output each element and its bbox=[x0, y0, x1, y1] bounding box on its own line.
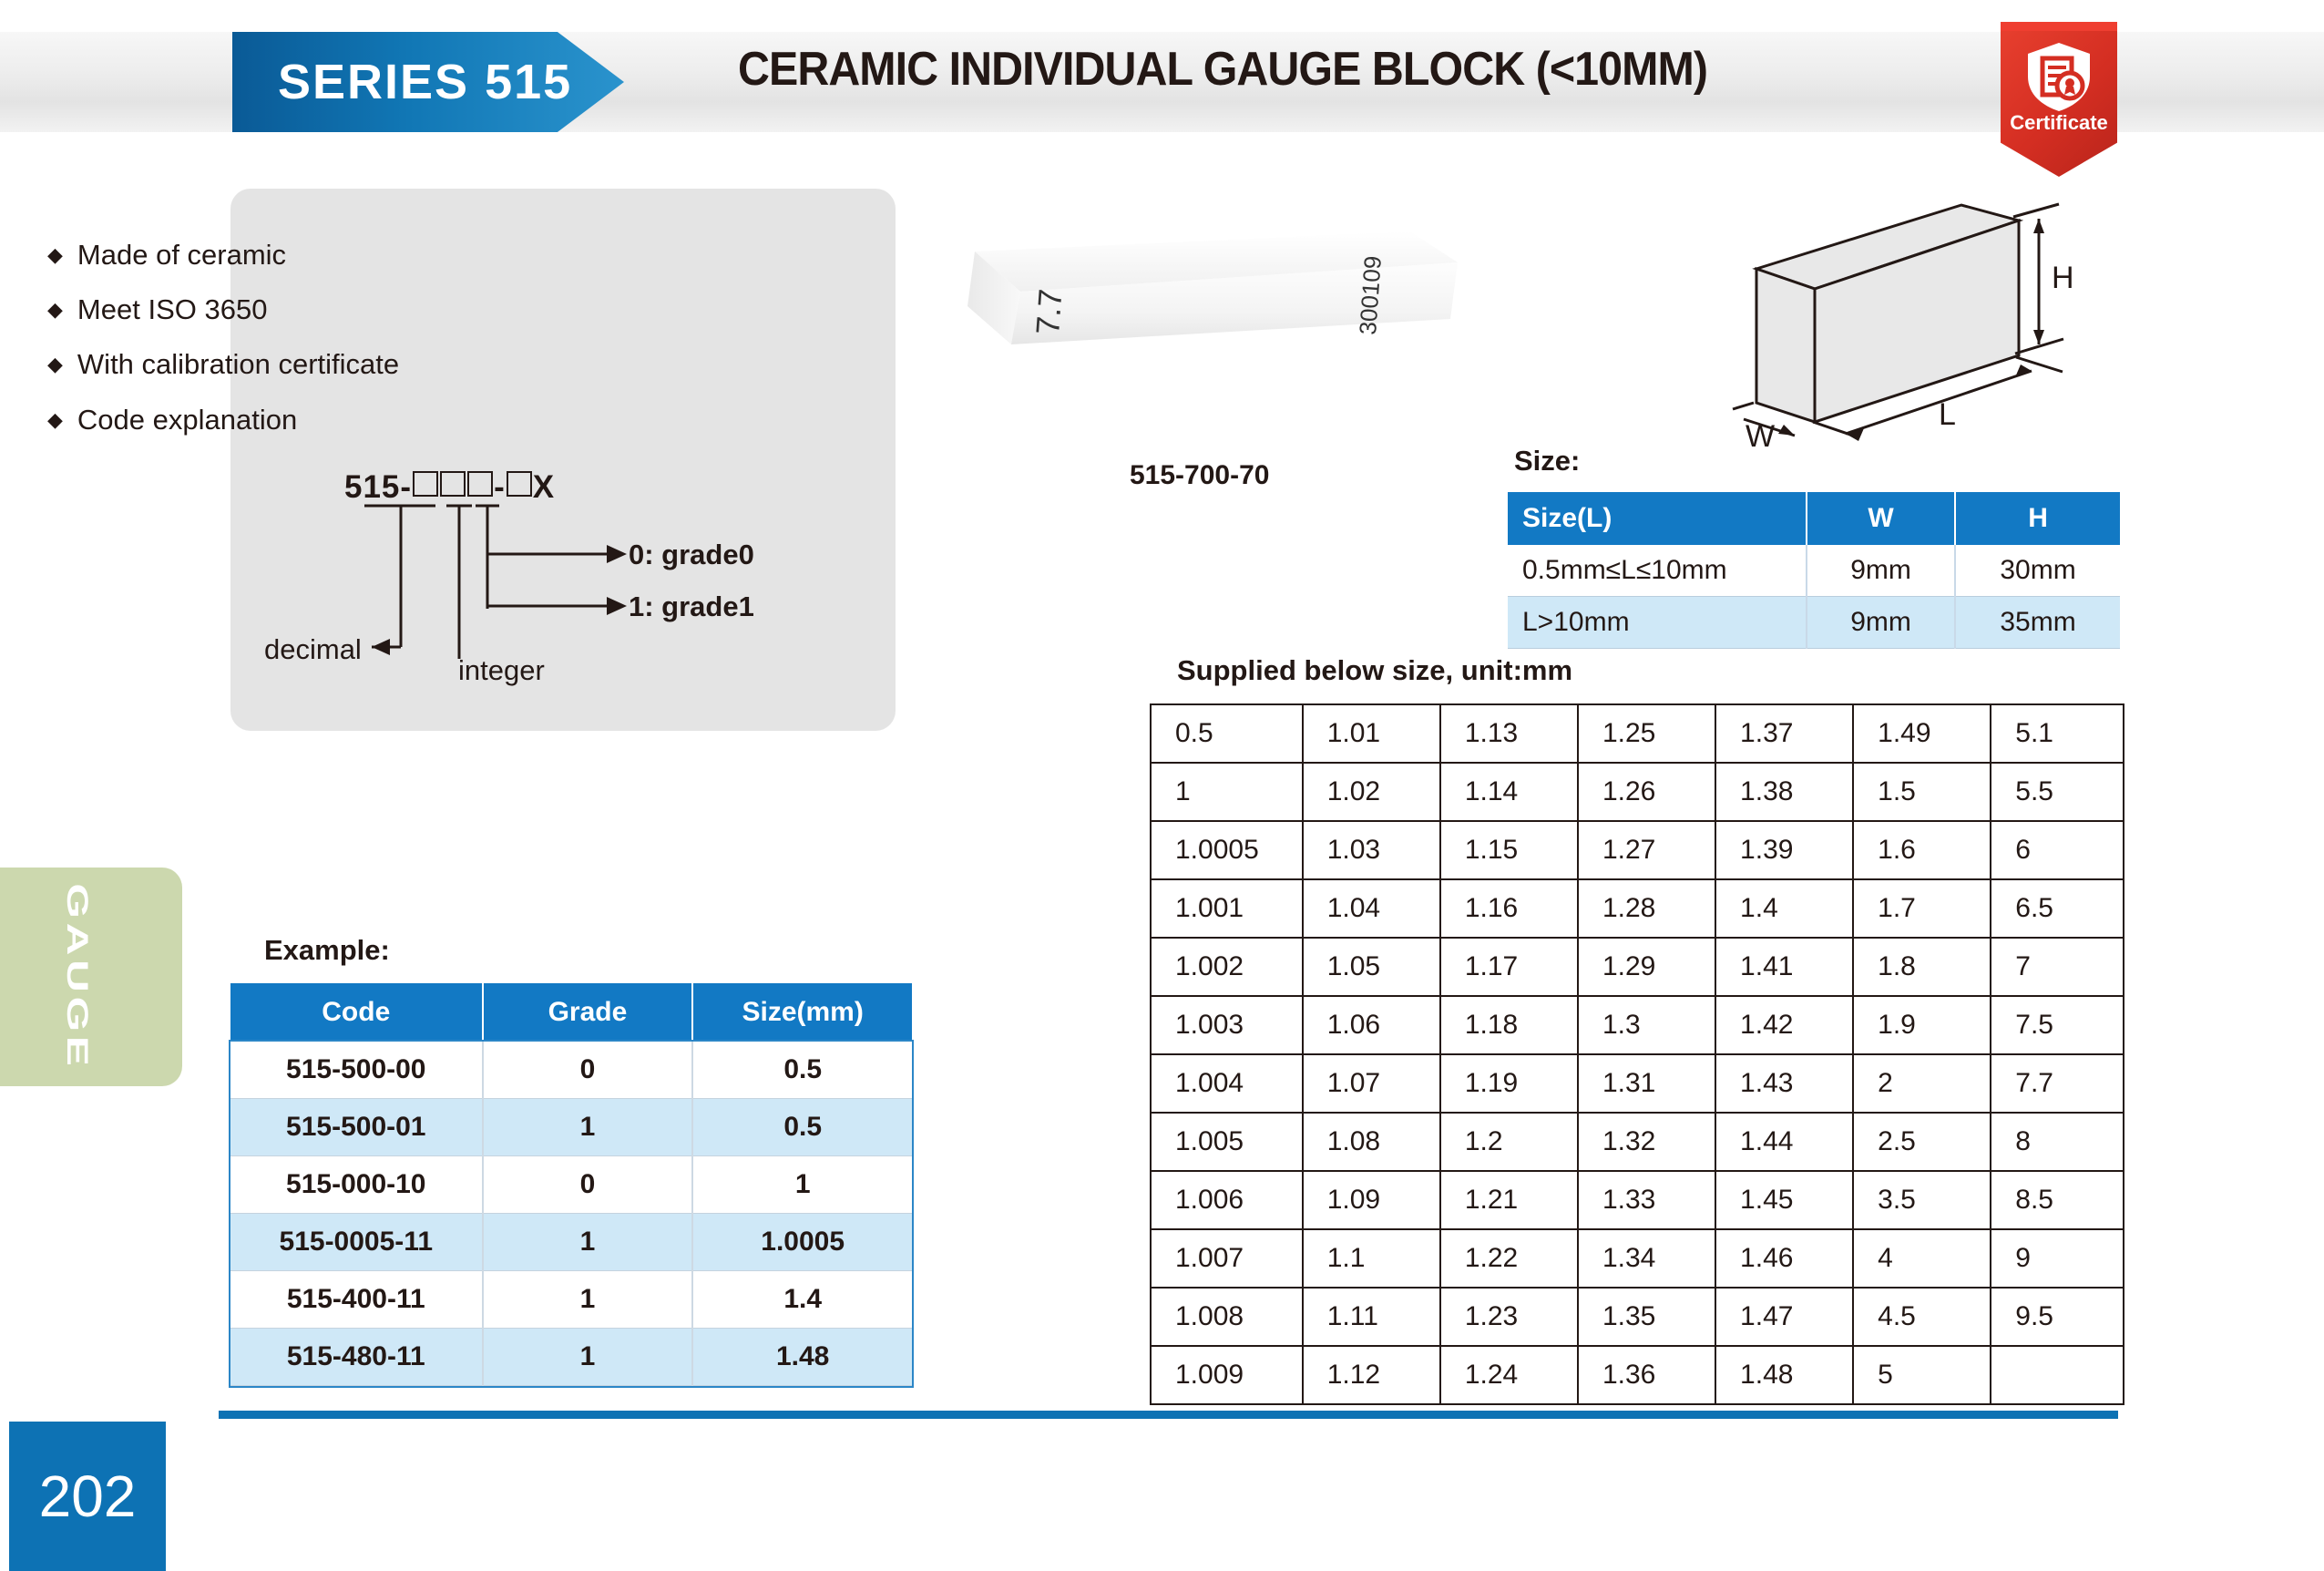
supplied-size-cell: 1.34 bbox=[1578, 1229, 1715, 1288]
supplied-size-cell bbox=[1991, 1346, 2124, 1404]
block-serial-marking: 300109 bbox=[1354, 255, 1387, 336]
supplied-size-cell: 5.5 bbox=[1991, 763, 2124, 821]
size-cell: 30mm bbox=[1955, 545, 2120, 597]
certificate-badge: Certificate bbox=[2001, 22, 2117, 177]
table-row: 1.0071.11.221.341.4649 bbox=[1151, 1229, 2124, 1288]
supplied-size-cell: 1.41 bbox=[1715, 938, 1853, 996]
table-row: 515-500-0110.5 bbox=[230, 1099, 912, 1156]
gauge-block-product-image: 7.7 300109 bbox=[947, 208, 1476, 426]
supplied-size-cell: 3.5 bbox=[1853, 1171, 1991, 1229]
size-table: Size(L) W H 0.5mm≤L≤10mm 9mm 30mm L>10mm… bbox=[1508, 492, 2120, 649]
supplied-size-cell: 1.33 bbox=[1578, 1171, 1715, 1229]
supplied-size-cell: 1.008 bbox=[1151, 1288, 1303, 1346]
example-cell: 515-500-00 bbox=[230, 1042, 483, 1099]
example-col-header: Grade bbox=[483, 983, 693, 1042]
supplied-size-cell: 1.38 bbox=[1715, 763, 1853, 821]
example-col-header: Size(mm) bbox=[692, 983, 912, 1042]
supplied-size-cell: 1.37 bbox=[1715, 704, 1853, 763]
diamond-bullet-icon: ◆ bbox=[47, 298, 63, 322]
supplied-size-cell: 9 bbox=[1991, 1229, 2124, 1288]
supplied-size-cell: 1.16 bbox=[1440, 879, 1578, 938]
example-cell: 0.5 bbox=[692, 1042, 912, 1099]
table-row: 515-0005-1111.0005 bbox=[230, 1214, 912, 1271]
table-header-row: Size(L) W H bbox=[1508, 492, 2120, 545]
table-row: 515-500-0000.5 bbox=[230, 1042, 912, 1099]
supplied-size-cell: 7 bbox=[1991, 938, 2124, 996]
supplied-size-cell: 1.31 bbox=[1578, 1054, 1715, 1113]
series-tag-label: SERIES 515 bbox=[232, 54, 572, 110]
supplied-size-cell: 1.002 bbox=[1151, 938, 1303, 996]
example-cell: 0 bbox=[483, 1156, 693, 1214]
supplied-size-cell: 1.07 bbox=[1303, 1054, 1440, 1113]
supplied-size-cell: 1.18 bbox=[1440, 996, 1578, 1054]
supplied-size-cell: 7.7 bbox=[1991, 1054, 2124, 1113]
supplied-size-cell: 1.0005 bbox=[1151, 821, 1303, 879]
example-cell: 515-500-01 bbox=[230, 1099, 483, 1156]
supplied-size-cell: 1.25 bbox=[1578, 704, 1715, 763]
table-row: 1.0021.051.171.291.411.87 bbox=[1151, 938, 2124, 996]
example-table: Code Grade Size(mm) 515-500-0000.5515-50… bbox=[230, 983, 912, 1386]
table-row: 0.51.011.131.251.371.495.1 bbox=[1151, 704, 2124, 763]
size-col-header: Size(L) bbox=[1508, 492, 1807, 545]
supplied-size-cell: 1.23 bbox=[1440, 1288, 1578, 1346]
supplied-size-cell: 1.28 bbox=[1578, 879, 1715, 938]
table-row: 1.00051.031.151.271.391.66 bbox=[1151, 821, 2124, 879]
supplied-size-cell: 1.9 bbox=[1853, 996, 1991, 1054]
example-section-heading: Example: bbox=[264, 934, 390, 967]
feature-item: ◆Code explanation bbox=[47, 404, 297, 436]
certificate-label: Certificate bbox=[2001, 111, 2117, 135]
supplied-size-cell: 1.44 bbox=[1715, 1113, 1853, 1171]
supplied-size-cell: 1.005 bbox=[1151, 1113, 1303, 1171]
supplied-sizes-table: 0.51.011.131.251.371.495.111.021.141.261… bbox=[1150, 703, 2124, 1405]
supplied-size-cell: 4.5 bbox=[1853, 1288, 1991, 1346]
supplied-size-cell: 1.39 bbox=[1715, 821, 1853, 879]
supplied-size-cell: 1.29 bbox=[1578, 938, 1715, 996]
example-cell: 515-0005-11 bbox=[230, 1214, 483, 1271]
supplied-size-cell: 1.43 bbox=[1715, 1054, 1853, 1113]
size-cell: 9mm bbox=[1807, 545, 1955, 597]
supplied-size-cell: 2.5 bbox=[1853, 1113, 1991, 1171]
supplied-size-cell: 1.009 bbox=[1151, 1346, 1303, 1404]
size-section-heading: Size: bbox=[1514, 445, 1580, 477]
supplied-size-cell: 0.5 bbox=[1151, 704, 1303, 763]
table-row: 1.0081.111.231.351.474.59.5 bbox=[1151, 1288, 2124, 1346]
diamond-bullet-icon: ◆ bbox=[47, 243, 63, 267]
block-size-marking: 7.7 bbox=[1029, 288, 1069, 336]
supplied-size-cell: 1.13 bbox=[1440, 704, 1578, 763]
supplied-size-cell: 1.007 bbox=[1151, 1229, 1303, 1288]
supplied-size-cell: 1.08 bbox=[1303, 1113, 1440, 1171]
table-row: 1.0031.061.181.31.421.97.5 bbox=[1151, 996, 2124, 1054]
supplied-size-cell: 1.47 bbox=[1715, 1288, 1853, 1346]
supplied-size-cell: 7.5 bbox=[1991, 996, 2124, 1054]
example-cell: 1.4 bbox=[692, 1271, 912, 1329]
example-cell: 1.0005 bbox=[692, 1214, 912, 1271]
feature-item-label: Made of ceramic bbox=[77, 239, 286, 271]
table-header-row: Code Grade Size(mm) bbox=[230, 983, 912, 1042]
table-row: 1.0061.091.211.331.453.58.5 bbox=[1151, 1171, 2124, 1229]
size-col-header: W bbox=[1807, 492, 1955, 545]
table-row: 1.0091.121.241.361.485 bbox=[1151, 1346, 2124, 1404]
table-row: 1.0051.081.21.321.442.58 bbox=[1151, 1113, 2124, 1171]
feature-item-label: With calibration certificate bbox=[77, 348, 399, 380]
grade1-label: 1: grade1 bbox=[629, 590, 754, 623]
supplied-size-cell: 1.4 bbox=[1715, 879, 1853, 938]
page-title: CERAMIC INDIVIDUAL GAUGE BLOCK (<10MM) bbox=[738, 42, 1707, 97]
section-side-tab-label: GAUGE bbox=[0, 847, 159, 1105]
supplied-size-cell: 1.49 bbox=[1853, 704, 1991, 763]
supplied-size-cell: 6 bbox=[1991, 821, 2124, 879]
supplied-size-cell: 4 bbox=[1853, 1229, 1991, 1288]
supplied-size-cell: 1.45 bbox=[1715, 1171, 1853, 1229]
example-cell: 1 bbox=[483, 1271, 693, 1329]
supplied-size-cell: 1.006 bbox=[1151, 1171, 1303, 1229]
supplied-size-cell: 1.6 bbox=[1853, 821, 1991, 879]
feature-item-label: Meet ISO 3650 bbox=[77, 293, 268, 325]
footer-rule bbox=[219, 1411, 2118, 1419]
example-cell: 1.48 bbox=[692, 1329, 912, 1386]
table-row: 1.0011.041.161.281.41.76.5 bbox=[1151, 879, 2124, 938]
certificate-shield-icon bbox=[2022, 40, 2095, 113]
example-cell: 1 bbox=[483, 1214, 693, 1271]
table-row: 0.5mm≤L≤10mm 9mm 30mm bbox=[1508, 545, 2120, 597]
supplied-size-cell: 1.24 bbox=[1440, 1346, 1578, 1404]
size-col-header: H bbox=[1955, 492, 2120, 545]
table-row: 515-400-1111.4 bbox=[230, 1271, 912, 1329]
supplied-size-cell: 1.09 bbox=[1303, 1171, 1440, 1229]
supplied-size-cell: 1.04 bbox=[1303, 879, 1440, 938]
supplied-size-cell: 1.01 bbox=[1303, 704, 1440, 763]
example-col-header: Code bbox=[230, 983, 483, 1042]
page-number-label: 202 bbox=[39, 1463, 137, 1530]
supplied-size-cell: 1.32 bbox=[1578, 1113, 1715, 1171]
feature-item: ◆Meet ISO 3650 bbox=[47, 293, 267, 326]
example-cell: 1 bbox=[483, 1329, 693, 1386]
decimal-label: decimal bbox=[264, 633, 362, 666]
table-row: 11.021.141.261.381.55.5 bbox=[1151, 763, 2124, 821]
supplied-size-cell: 1.001 bbox=[1151, 879, 1303, 938]
feature-item-label: Code explanation bbox=[77, 404, 297, 436]
example-cell: 515-400-11 bbox=[230, 1271, 483, 1329]
supplied-size-cell: 5 bbox=[1853, 1346, 1991, 1404]
example-cell: 1 bbox=[483, 1099, 693, 1156]
product-caption: 515-700-70 bbox=[1130, 460, 1269, 491]
supplied-size-cell: 1.06 bbox=[1303, 996, 1440, 1054]
supplied-size-cell: 1.7 bbox=[1853, 879, 1991, 938]
width-label: W bbox=[1746, 419, 1775, 454]
supplied-size-cell: 1.19 bbox=[1440, 1054, 1578, 1113]
example-cell: 515-000-10 bbox=[230, 1156, 483, 1214]
supplied-size-cell: 1.1 bbox=[1303, 1229, 1440, 1288]
size-cell: L>10mm bbox=[1508, 597, 1807, 649]
size-cell: 0.5mm≤L≤10mm bbox=[1508, 545, 1807, 597]
integer-label: integer bbox=[458, 654, 545, 687]
supplied-size-cell: 6.5 bbox=[1991, 879, 2124, 938]
supplied-size-cell: 1.46 bbox=[1715, 1229, 1853, 1288]
supplied-size-cell: 1.8 bbox=[1853, 938, 1991, 996]
supplied-size-cell: 1.27 bbox=[1578, 821, 1715, 879]
table-row: 1.0041.071.191.311.4327.7 bbox=[1151, 1054, 2124, 1113]
supplied-size-cell: 1 bbox=[1151, 763, 1303, 821]
supplied-size-cell: 1.35 bbox=[1578, 1288, 1715, 1346]
diamond-bullet-icon: ◆ bbox=[47, 353, 63, 376]
series-tag-banner: SERIES 515 bbox=[232, 32, 624, 132]
supplied-size-cell: 1.12 bbox=[1303, 1346, 1440, 1404]
supplied-size-cell: 9.5 bbox=[1991, 1288, 2124, 1346]
supplied-size-cell: 1.36 bbox=[1578, 1346, 1715, 1404]
supplied-size-cell: 1.5 bbox=[1853, 763, 1991, 821]
supplied-size-cell: 8.5 bbox=[1991, 1171, 2124, 1229]
height-label: H bbox=[2052, 261, 2074, 295]
diamond-bullet-icon: ◆ bbox=[47, 408, 63, 432]
supplied-size-cell: 1.004 bbox=[1151, 1054, 1303, 1113]
supplied-size-cell: 1.22 bbox=[1440, 1229, 1578, 1288]
section-side-tab: GAUGE bbox=[0, 868, 182, 1086]
supplied-size-cell: 1.05 bbox=[1303, 938, 1440, 996]
supplied-size-cell: 2 bbox=[1853, 1054, 1991, 1113]
supplied-size-cell: 5.1 bbox=[1991, 704, 2124, 763]
example-cell: 515-480-11 bbox=[230, 1329, 483, 1386]
supplied-size-cell: 1.21 bbox=[1440, 1171, 1578, 1229]
supplied-size-cell: 1.003 bbox=[1151, 996, 1303, 1054]
supplied-size-cell: 1.02 bbox=[1303, 763, 1440, 821]
grade0-label: 0: grade0 bbox=[629, 539, 754, 571]
feature-item: ◆Made of ceramic bbox=[47, 239, 286, 272]
supplied-size-cell: 1.26 bbox=[1578, 763, 1715, 821]
supplied-size-cell: 1.03 bbox=[1303, 821, 1440, 879]
supplied-size-cell: 8 bbox=[1991, 1113, 2124, 1171]
certificate-top-strip bbox=[2001, 22, 2117, 31]
gauge-block-dimension-drawing: H L W bbox=[1731, 200, 2150, 460]
size-cell: 9mm bbox=[1807, 597, 1955, 649]
supplied-size-cell: 1.15 bbox=[1440, 821, 1578, 879]
supplied-size-cell: 1.17 bbox=[1440, 938, 1578, 996]
length-label: L bbox=[1939, 397, 1956, 432]
page-number-box: 202 bbox=[9, 1422, 166, 1571]
example-cell: 0.5 bbox=[692, 1099, 912, 1156]
supplied-size-cell: 1.14 bbox=[1440, 763, 1578, 821]
supplied-size-cell: 1.2 bbox=[1440, 1113, 1578, 1171]
table-row: 515-480-1111.48 bbox=[230, 1329, 912, 1386]
supplied-size-cell: 1.42 bbox=[1715, 996, 1853, 1054]
supplied-size-cell: 1.48 bbox=[1715, 1346, 1853, 1404]
example-cell: 0 bbox=[483, 1042, 693, 1099]
size-cell: 35mm bbox=[1955, 597, 2120, 649]
example-cell: 1 bbox=[692, 1156, 912, 1214]
supplied-size-cell: 1.3 bbox=[1578, 996, 1715, 1054]
feature-item: ◆With calibration certificate bbox=[47, 348, 399, 381]
table-row: 515-000-1001 bbox=[230, 1156, 912, 1214]
code-explanation-diagram: 515--X 0: grade0 1: grade1 decimal integ… bbox=[264, 460, 847, 683]
supplied-sizes-heading: Supplied below size, unit:mm bbox=[1177, 654, 1572, 687]
supplied-size-cell: 1.11 bbox=[1303, 1288, 1440, 1346]
table-row: L>10mm 9mm 35mm bbox=[1508, 597, 2120, 649]
